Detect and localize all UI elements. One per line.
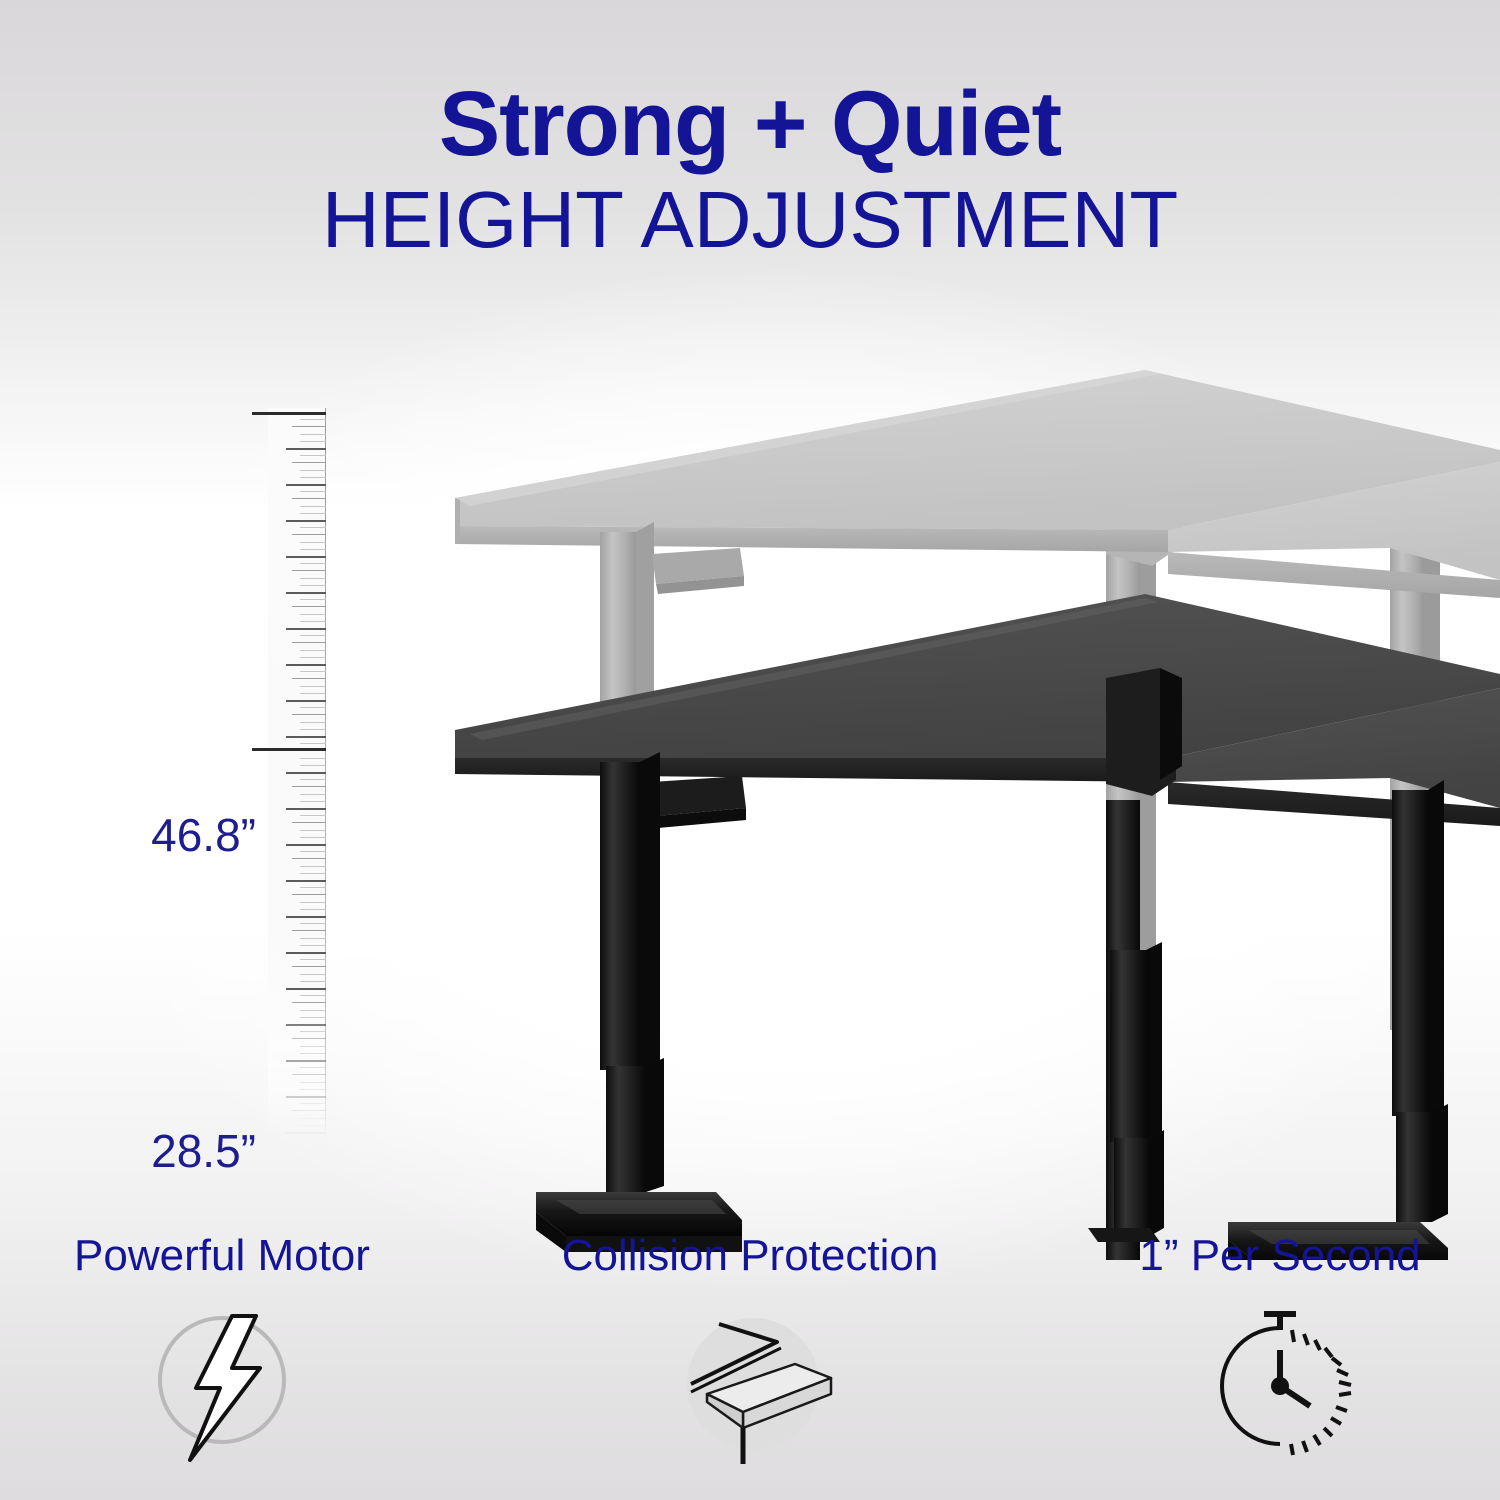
- ruler-tick: [300, 981, 326, 982]
- ruler-tick: [300, 938, 326, 939]
- ruler-tick: [286, 808, 326, 810]
- ruler-tick: [300, 959, 326, 960]
- ruler-tick: [300, 758, 326, 759]
- ruler-tick: [292, 498, 326, 499]
- feature-powerful-motor: Powerful Motor: [0, 1232, 472, 1472]
- lowered-desk-leg-front-left: [536, 752, 742, 1252]
- ruler-tick: [300, 1046, 326, 1047]
- l-shaped-standing-desk: [0, 330, 1500, 1260]
- ruler-tick: [292, 930, 326, 931]
- ruler-tick: [286, 556, 326, 558]
- ruler-tick: [300, 1118, 326, 1119]
- ruler-tick: [286, 448, 326, 450]
- ruler-tick: [300, 815, 326, 816]
- ruler-tick: [300, 974, 326, 975]
- ruler-tick: [300, 650, 326, 651]
- lowered-desk-leg-right: [1228, 780, 1448, 1260]
- ruler-tick: [300, 434, 326, 435]
- feature-row: Powerful Motor Collision Protection: [0, 1232, 1500, 1500]
- height-range-ruler: 46.8” 28.5”: [268, 408, 326, 1138]
- ruler-tick: [300, 671, 326, 672]
- ruler-tick: [292, 606, 326, 607]
- ruler-label-min: 28.5”: [16, 1124, 256, 1178]
- ruler-tick: [292, 642, 326, 643]
- stopwatch-icon: [1030, 1302, 1500, 1472]
- ruler-tick: [286, 1096, 326, 1098]
- ruler-tick: [300, 765, 326, 766]
- ruler-tick: [300, 866, 326, 867]
- ruler-tick: [292, 678, 326, 679]
- ruler-tick: [300, 1053, 326, 1054]
- ruler-tick: [292, 894, 326, 895]
- ruler-tick: [286, 628, 326, 630]
- ruler-tick: [292, 822, 326, 823]
- feature-label: 1” Per Second: [1030, 1232, 1500, 1280]
- ruler-tick: [300, 635, 326, 636]
- ruler-tick: [286, 952, 326, 954]
- ruler-tick: [286, 484, 326, 486]
- lowered-desk-corner-bracket: [1106, 668, 1182, 796]
- lightning-bolt-icon: [0, 1302, 472, 1472]
- ruler-tick: [300, 693, 326, 694]
- ruler-tick: [286, 916, 326, 918]
- ruler-tick: [292, 462, 326, 463]
- ruler-tick: [300, 945, 326, 946]
- ruler-tick: [300, 794, 326, 795]
- ruler-tick: [300, 1010, 326, 1011]
- ruler-tick: [300, 995, 326, 996]
- ruler-tick: [300, 801, 326, 802]
- ruler-tick: [300, 563, 326, 564]
- ruler-tick: [300, 527, 326, 528]
- ruler-tick: [300, 599, 326, 600]
- ruler-tick: [286, 520, 326, 522]
- ruler-tick: [292, 1038, 326, 1039]
- ruler-tick: [292, 966, 326, 967]
- ruler-tick: [300, 549, 326, 550]
- ruler-tick: [300, 477, 326, 478]
- ruler-tick: [300, 578, 326, 579]
- ruler-tick: [292, 858, 326, 859]
- ruler-tick: [300, 491, 326, 492]
- ruler-tick: [300, 779, 326, 780]
- ruler-tick: [300, 830, 326, 831]
- ruler-tick: [286, 736, 326, 738]
- ruler-tick: [300, 542, 326, 543]
- ruler-tick: [300, 722, 326, 723]
- ruler-tick: [300, 902, 326, 903]
- ruler-tick: [300, 441, 326, 442]
- ruler-tick: [300, 1067, 326, 1068]
- feature-label: Powerful Motor: [0, 1232, 472, 1280]
- ruler-tick: [300, 873, 326, 874]
- ruler-tick: [286, 1060, 326, 1062]
- ruler-tick: [300, 585, 326, 586]
- ruler-tick: [286, 844, 326, 846]
- ruler-tick: [300, 1031, 326, 1032]
- ruler-tick: [300, 614, 326, 615]
- ruler-tick: [286, 700, 326, 702]
- page-title: Strong + Quiet: [0, 78, 1500, 172]
- ruler-tick: [300, 887, 326, 888]
- headline-block: Strong + Quiet HEIGHT ADJUSTMENT: [0, 78, 1500, 262]
- ruler-tick: [300, 1017, 326, 1018]
- ruler-tick: [300, 513, 326, 514]
- ruler-tick: [300, 923, 326, 924]
- desktop-collision-icon: [500, 1302, 1000, 1472]
- ruler-tick: [292, 786, 326, 787]
- ruler-tick: [300, 455, 326, 456]
- ruler-tick: [286, 1024, 326, 1026]
- ruler-tick: [292, 534, 326, 535]
- feature-collision-protection: Collision Protection: [500, 1232, 1000, 1472]
- ruler-tick: [292, 1002, 326, 1003]
- feature-label: Collision Protection: [500, 1232, 1000, 1280]
- ruler-tick: [300, 837, 326, 838]
- ruler-tick: [286, 772, 326, 774]
- feature-one-inch-per-second: 1” Per Second: [1030, 1232, 1500, 1472]
- ruler-tick: [300, 621, 326, 622]
- ruler-tick: [300, 657, 326, 658]
- ruler-tick: [286, 880, 326, 882]
- lowered-desk-leg-corner-lower: [1088, 942, 1164, 1242]
- ruler-tick: [286, 988, 326, 990]
- ruler-tick: [292, 426, 326, 427]
- ruler-tick: [300, 686, 326, 687]
- page-subtitle: HEIGHT ADJUSTMENT: [0, 178, 1500, 262]
- ruler-tick: [300, 909, 326, 910]
- ruler-tick: [286, 592, 326, 594]
- ruler-major-tick-min: [252, 748, 326, 751]
- ruler-tick: [300, 1103, 326, 1104]
- ruler-tick: [300, 1125, 326, 1126]
- ruler-tick: [292, 1074, 326, 1075]
- ruler-tick: [300, 506, 326, 507]
- ruler-tick: [292, 1110, 326, 1111]
- infographic-page: Strong + Quiet HEIGHT ADJUSTMENT 46.8” 2…: [0, 0, 1500, 1500]
- raised-desk-control-panel: [652, 548, 744, 594]
- ruler-tick: [286, 1132, 326, 1134]
- ruler-tick: [300, 707, 326, 708]
- ruler-tick: [300, 743, 326, 744]
- ruler-label-max: 46.8”: [16, 808, 256, 862]
- ruler-tick: [300, 851, 326, 852]
- ruler-tick: [300, 1082, 326, 1083]
- ruler-tick: [300, 729, 326, 730]
- ruler-tick: [292, 570, 326, 571]
- ruler-major-tick-max: [252, 412, 326, 415]
- ruler-tick: [300, 470, 326, 471]
- lowered-desk-control-panel: [652, 776, 746, 828]
- ruler-tick: [286, 664, 326, 666]
- ruler-tick: [300, 419, 326, 420]
- ruler-tick: [300, 1089, 326, 1090]
- ruler-tick: [292, 714, 326, 715]
